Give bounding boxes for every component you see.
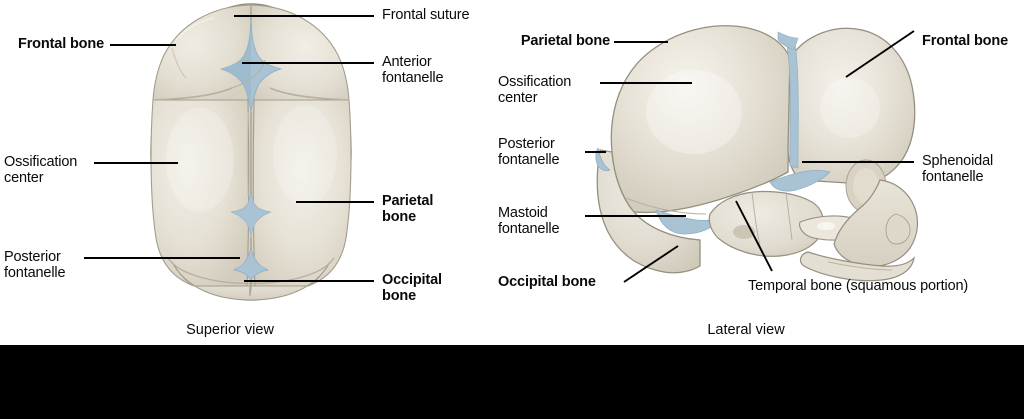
- label-lateral-sphenoidal-fontanelle-line1: Sphenoidal: [922, 153, 993, 170]
- sagittal-suture-highlight: [247, 112, 248, 196]
- superior-highlight-right: [273, 105, 337, 205]
- superior-frontal-bone-right: [251, 5, 349, 100]
- figure-page: Frontal bone Ossification center Posteri…: [0, 0, 1024, 419]
- lateral-frontal-highlight: [820, 78, 880, 138]
- label-lateral-mastoid-fontanelle-line1: Mastoid: [498, 205, 548, 222]
- superior-highlight-left: [166, 108, 234, 212]
- label-superior-frontal-suture: Frontal suture: [382, 7, 469, 24]
- caption-lateral-view: Lateral view: [676, 322, 816, 338]
- label-lateral-posterior-fontanelle-line1: Posterior: [498, 136, 555, 153]
- label-lateral-ossification-center-line2: center: [498, 90, 537, 107]
- label-lateral-posterior-fontanelle-line2: fontanelle: [498, 152, 559, 169]
- label-superior-anterior-fontanelle-line1: Anterior: [382, 54, 432, 71]
- label-superior-parietal-bone-line2: bone: [382, 209, 416, 226]
- label-superior-ossification-center-line1: Ossification: [4, 154, 77, 171]
- label-lateral-temporal-bone: Temporal bone (squamous portion): [748, 278, 968, 295]
- superior-view-skull: [151, 4, 351, 300]
- label-lateral-sphenoidal-fontanelle-line2: fontanelle: [922, 169, 983, 186]
- label-lateral-mastoid-fontanelle-line2: fontanelle: [498, 221, 559, 238]
- label-lateral-parietal-bone: Parietal bone: [494, 33, 610, 50]
- label-superior-parietal-bone-line1: Parietal: [382, 193, 433, 210]
- superior-frontal-bone-left: [153, 5, 251, 100]
- bottom-black-bar: [0, 345, 1024, 419]
- label-superior-posterior-fontanelle-line2: fontanelle: [4, 265, 65, 282]
- label-superior-posterior-fontanelle-line1: Posterior: [4, 249, 61, 266]
- label-lateral-ossification-center-line1: Ossification: [498, 74, 571, 91]
- label-superior-ossification-center-line2: center: [4, 170, 43, 187]
- label-lateral-frontal-bone: Frontal bone: [922, 33, 1008, 50]
- label-superior-occipital-bone-line1: Occipital: [382, 272, 442, 289]
- figure-canvas: Frontal bone Ossification center Posteri…: [0, 0, 1024, 345]
- label-superior-anterior-fontanelle-line2: fontanelle: [382, 70, 443, 87]
- label-superior-occipital-bone-line2: bone: [382, 288, 416, 305]
- label-superior-frontal-bone: Frontal bone: [0, 36, 104, 53]
- zygomatic-highlight: [817, 222, 835, 230]
- caption-superior-view: Superior view: [160, 322, 300, 338]
- label-lateral-occipital-bone: Occipital bone: [498, 274, 596, 291]
